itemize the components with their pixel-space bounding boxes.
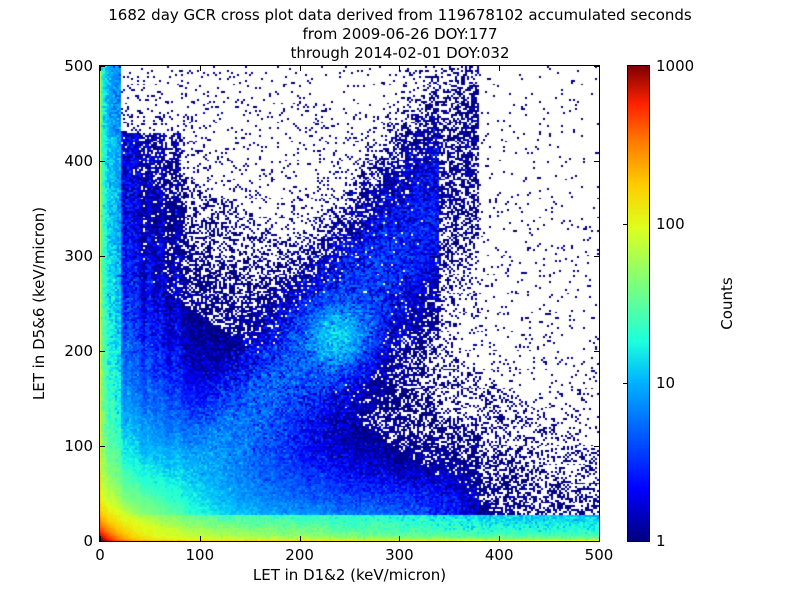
y-tick-label: 200 — [93, 342, 122, 360]
colorbar-tick-label: 1 — [656, 532, 666, 550]
plot-axes — [99, 65, 600, 542]
y-tick-right — [594, 256, 599, 257]
y-tick-label: 400 — [93, 152, 122, 170]
colorbar-gradient-icon — [628, 66, 649, 541]
x-tick-top — [200, 66, 201, 71]
scatter-heatmap-data — [100, 66, 599, 541]
x-tick-top — [599, 66, 600, 71]
y-tick-right — [594, 446, 599, 447]
y-tick-right — [594, 541, 599, 542]
y-tick-label: 500 — [93, 57, 122, 75]
colorbar-tick — [623, 383, 628, 384]
x-tick-label: 300 — [385, 546, 414, 564]
x-tick-label: 200 — [285, 546, 314, 564]
x-tick-top — [499, 66, 500, 71]
x-tick-label: 500 — [585, 546, 614, 564]
x-tick-top — [399, 66, 400, 71]
colorbar-tick-label: 1000 — [656, 57, 694, 75]
figure-canvas: 1682 day GCR cross plot data derived fro… — [0, 0, 800, 600]
y-tick-label: 0 — [93, 532, 103, 550]
x-tick-top — [300, 66, 301, 71]
x-tick-label: 400 — [485, 546, 514, 564]
x-tick — [300, 536, 301, 541]
colorbar — [627, 65, 650, 542]
y-tick-right — [594, 161, 599, 162]
x-tick — [200, 536, 201, 541]
x-axis-label: LET in D1&2 (keV/micron) — [99, 566, 600, 584]
y-tick-label: 100 — [93, 437, 122, 455]
colorbar-tick-label: 10 — [656, 374, 675, 392]
colorbar-tick — [623, 224, 628, 225]
colorbar-tick-label: 100 — [656, 215, 685, 233]
y-tick-right — [594, 351, 599, 352]
y-tick-right — [594, 66, 599, 67]
x-tick-label: 100 — [185, 546, 214, 564]
chart-title-line-2: from 2009-06-26 DOY:177 — [0, 25, 800, 44]
y-axis-label: LET in D5&6 (keV/micron) — [30, 65, 48, 542]
y-tick-label: 300 — [93, 247, 122, 265]
chart-title-line-1: 1682 day GCR cross plot data derived fro… — [0, 6, 800, 25]
colorbar-label: Counts — [718, 65, 736, 542]
x-tick — [499, 536, 500, 541]
chart-title: 1682 day GCR cross plot data derived fro… — [0, 6, 800, 63]
x-tick — [399, 536, 400, 541]
x-tick — [599, 536, 600, 541]
